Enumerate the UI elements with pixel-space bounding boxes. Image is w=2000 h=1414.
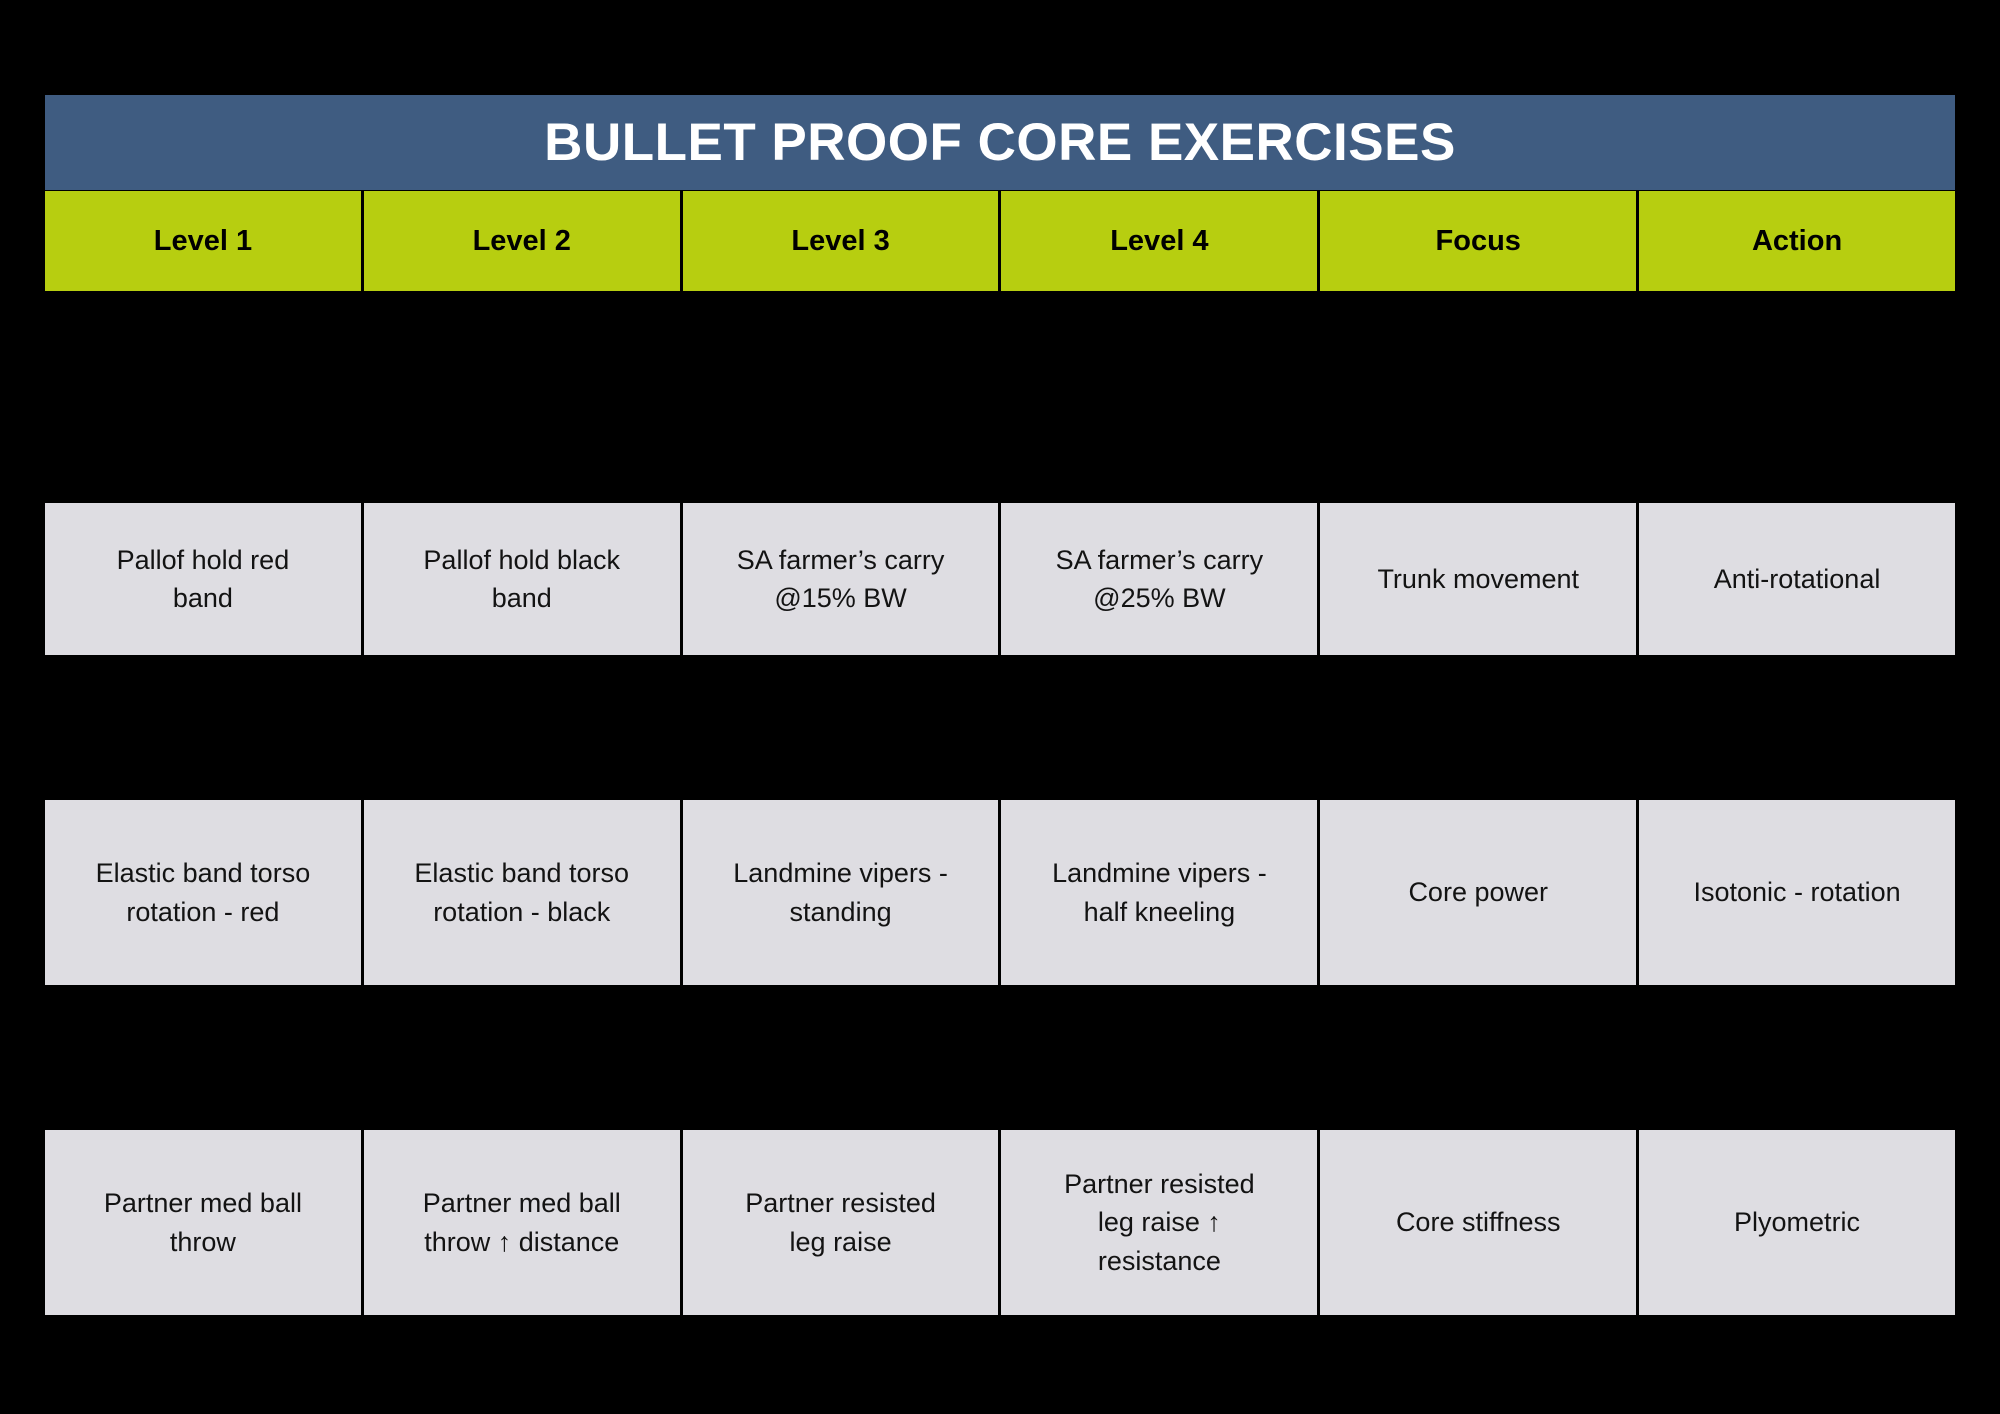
table-cell: Landmine vipers - half kneeling — [1001, 800, 1317, 985]
table-cell: Elastic band torso rotation - red — [45, 800, 361, 985]
table-cell: Pallof hold red band — [45, 503, 361, 655]
table-cell-label: Plyometric — [1734, 1203, 1860, 1241]
column-header-label: Level 3 — [791, 224, 889, 259]
table-cell: Anti-rotational — [1639, 503, 1955, 655]
table-cell-label: Partner resisted leg raise — [745, 1184, 936, 1261]
table-cell-label: SA farmer’s carry @15% BW — [737, 541, 945, 618]
title-banner: BULLET PROOF CORE EXERCISES — [45, 95, 1955, 190]
table-cell: Partner resisted leg raise — [683, 1130, 999, 1315]
column-header-label: Action — [1752, 224, 1842, 259]
table-cell-label: Partner resisted leg raise ↑ resistance — [1064, 1165, 1255, 1280]
table-cell-label: Isotonic - rotation — [1694, 873, 1901, 911]
slide-root: BULLET PROOF CORE EXERCISES Level 1 Leve… — [0, 0, 2000, 1414]
table-cell: Core stiffness — [1320, 1130, 1636, 1315]
table-cell: Trunk movement — [1320, 503, 1636, 655]
column-header-label: Focus — [1436, 224, 1521, 259]
table-cell: Elastic band torso rotation - black — [364, 800, 680, 985]
table-cell: Landmine vipers - standing — [683, 800, 999, 985]
table-cell: Core power — [1320, 800, 1636, 985]
table-cell-label: Pallof hold black band — [423, 541, 620, 618]
table-cell: Partner med ball throw ↑ distance — [364, 1130, 680, 1315]
table-cell-label: Core stiffness — [1396, 1203, 1561, 1241]
table-cell-label: Pallof hold red band — [117, 541, 290, 618]
table-cell: Partner resisted leg raise ↑ resistance — [1001, 1130, 1317, 1315]
table-cell: SA farmer’s carry @15% BW — [683, 503, 999, 655]
table-cell-label: Partner med ball throw — [104, 1184, 302, 1261]
table-row: Pallof hold red band Pallof hold black b… — [45, 503, 1955, 655]
table-cell-label: Core power — [1408, 873, 1548, 911]
column-header-action: Action — [1639, 191, 1955, 291]
column-header-level-3: Level 3 — [683, 191, 999, 291]
column-header-label: Level 4 — [1110, 224, 1208, 259]
column-header-level-4: Level 4 — [1001, 191, 1317, 291]
table-cell: SA farmer’s carry @25% BW — [1001, 503, 1317, 655]
table-cell: Isotonic - rotation — [1639, 800, 1955, 985]
table-cell-label: Anti-rotational — [1714, 560, 1881, 598]
table-cell-label: Trunk movement — [1377, 560, 1579, 598]
table-cell-label: Landmine vipers - standing — [733, 854, 948, 931]
column-header-focus: Focus — [1320, 191, 1636, 291]
table-cell-label: Elastic band torso rotation - black — [414, 854, 629, 931]
column-header-level-1: Level 1 — [45, 191, 361, 291]
table-cell: Pallof hold black band — [364, 503, 680, 655]
table-cell-label: Landmine vipers - half kneeling — [1052, 854, 1267, 931]
table-cell-label: Elastic band torso rotation - red — [96, 854, 311, 931]
table-cell-label: SA farmer’s carry @25% BW — [1056, 541, 1264, 618]
table-cell-label: Partner med ball throw ↑ distance — [423, 1184, 621, 1261]
table-header-row: Level 1 Level 2 Level 3 Level 4 Focus Ac… — [45, 191, 1955, 291]
column-header-level-2: Level 2 — [364, 191, 680, 291]
column-header-label: Level 2 — [473, 224, 571, 259]
table-row: Partner med ball throw Partner med ball … — [45, 1130, 1955, 1315]
table-cell: Plyometric — [1639, 1130, 1955, 1315]
column-header-label: Level 1 — [154, 224, 252, 259]
table-row: Elastic band torso rotation - red Elasti… — [45, 800, 1955, 985]
page-title: BULLET PROOF CORE EXERCISES — [544, 116, 1456, 169]
table-cell: Partner med ball throw — [45, 1130, 361, 1315]
